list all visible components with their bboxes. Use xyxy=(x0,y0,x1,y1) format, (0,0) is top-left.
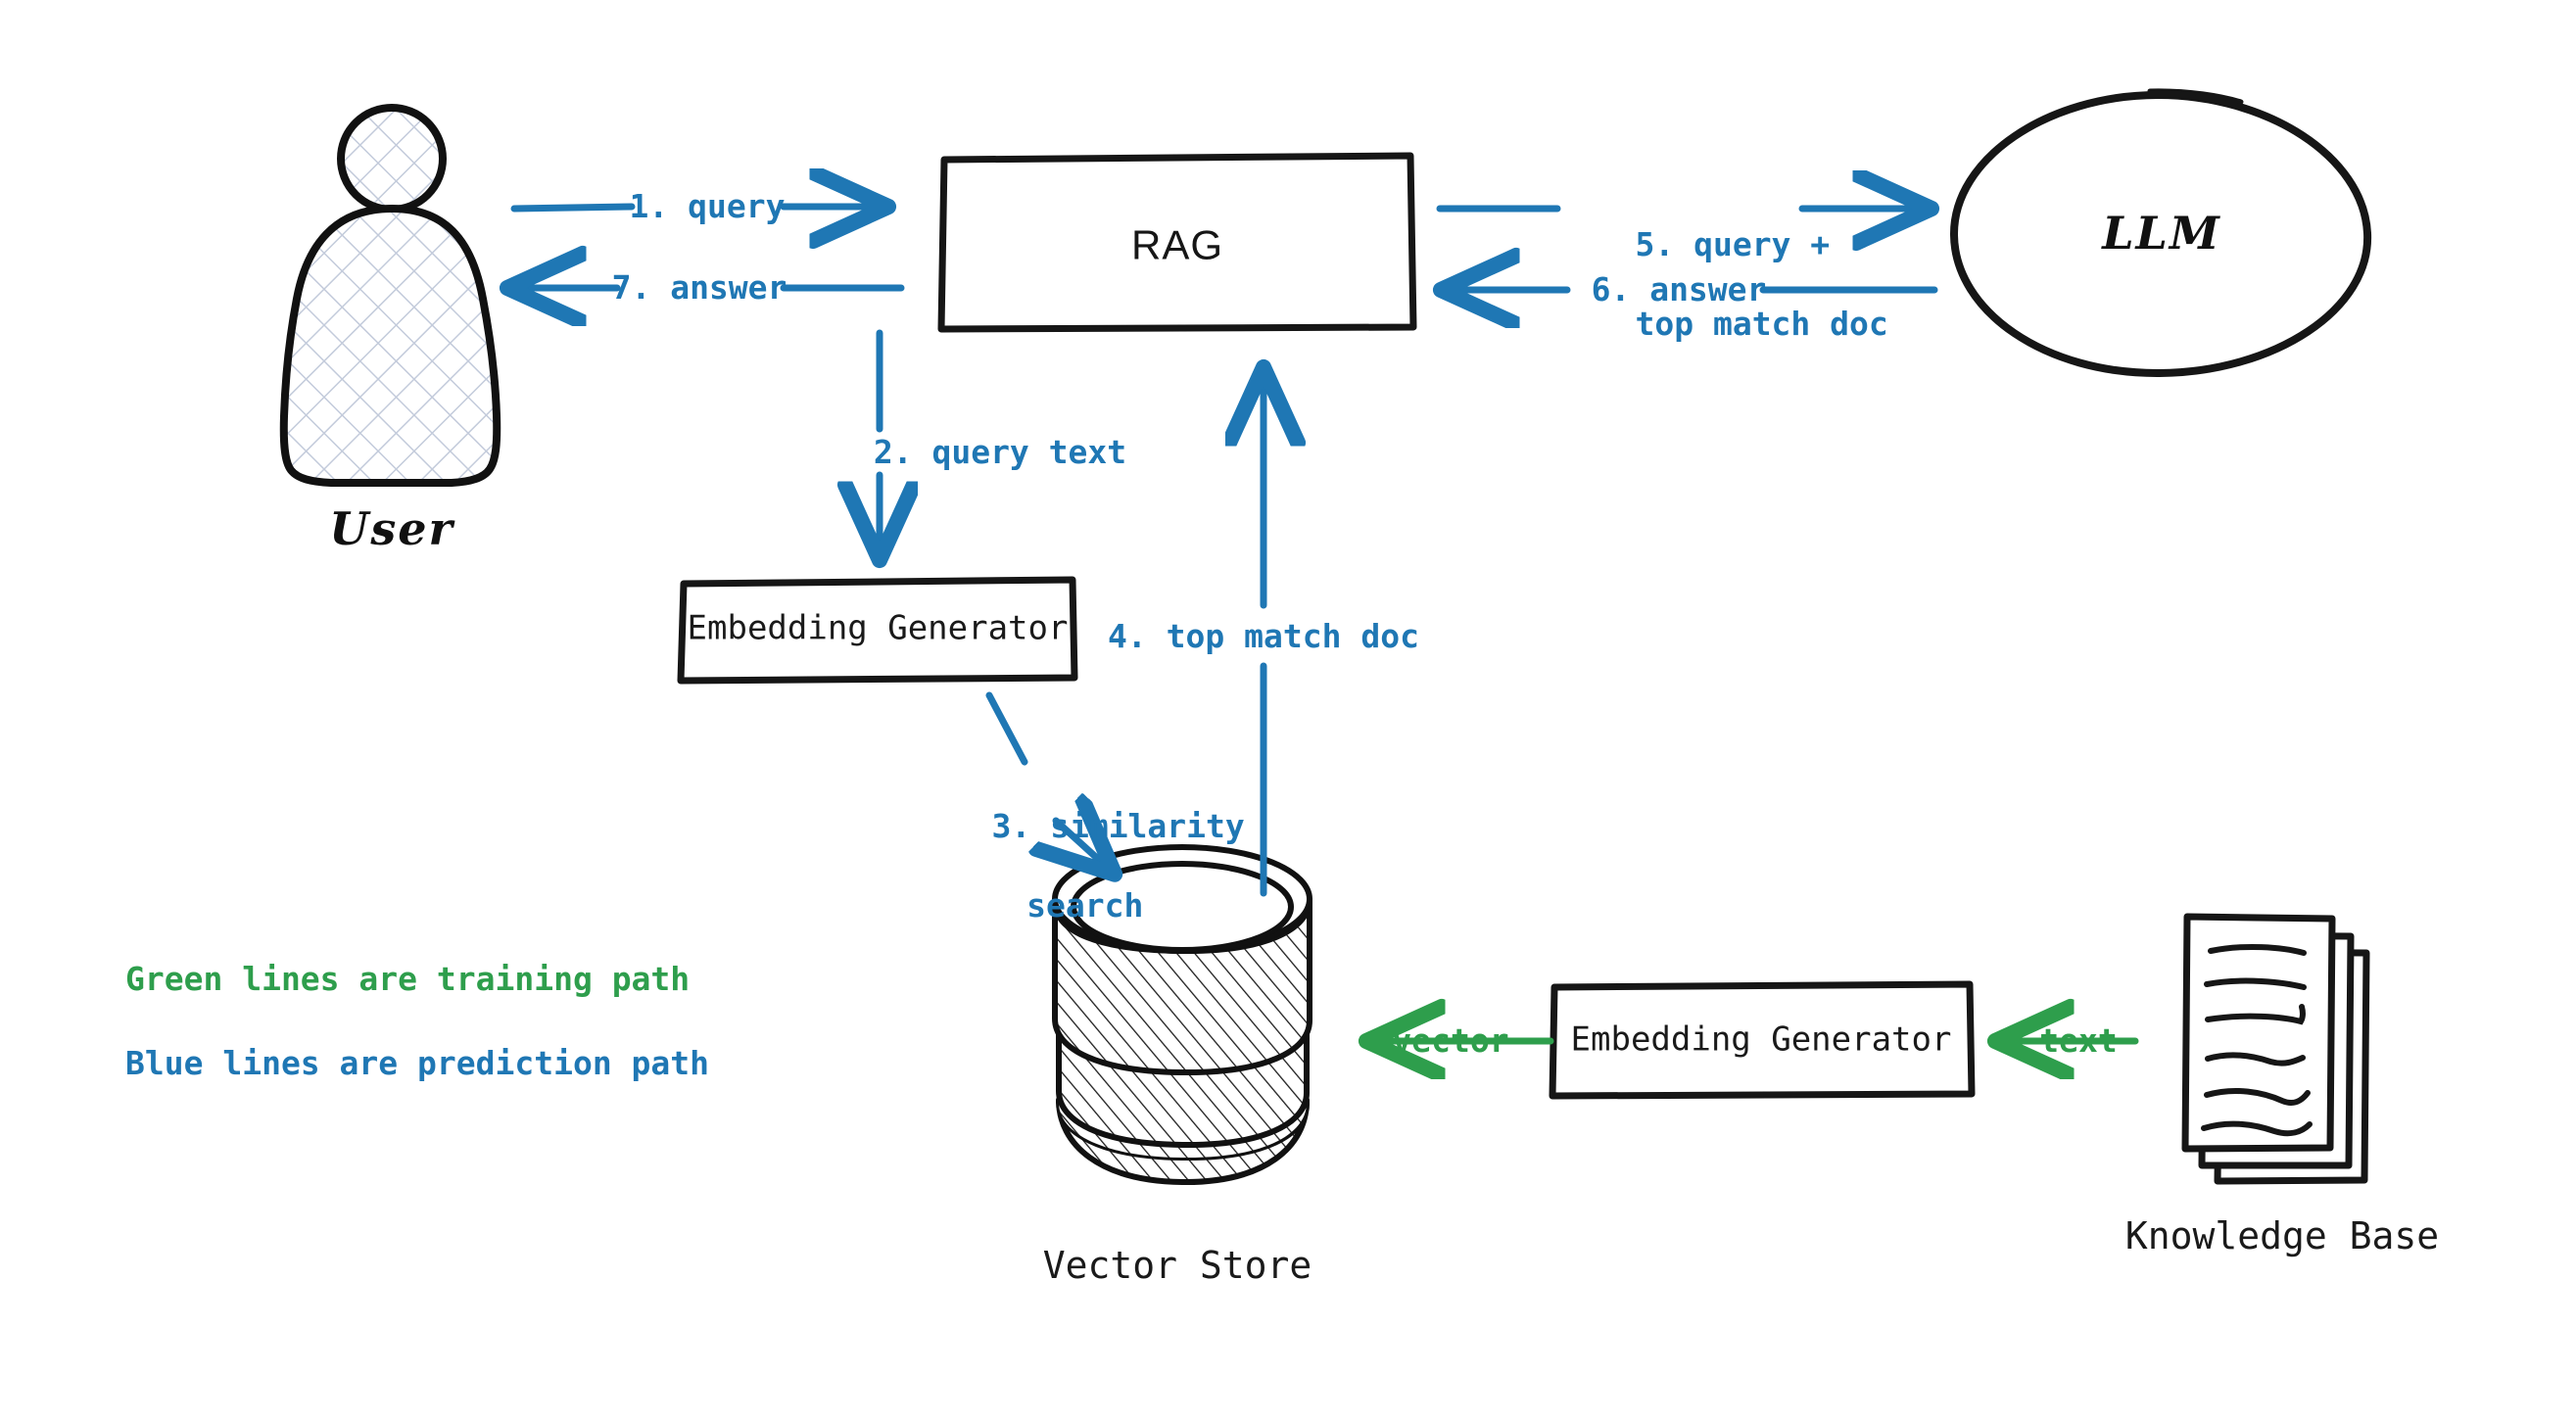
edge-label-text: text xyxy=(2039,1021,2117,1061)
edge-label-4-top-match-doc: 4. top match doc xyxy=(1108,617,1419,656)
rag-box-label: RAG xyxy=(1131,219,1223,269)
diagram-canvas: User RAG LLM Embedding Generator Embeddi… xyxy=(0,0,2576,1422)
edge-label-3-similarity-search: 3. similarity search xyxy=(914,768,1178,965)
edge-label-vector: vector xyxy=(1392,1021,1508,1061)
edge-label-6-answer: 6. answer xyxy=(1592,270,1767,309)
user-caption: User xyxy=(329,501,454,556)
legend-blue-prediction: Blue lines are prediction path xyxy=(125,1044,709,1083)
llm-label: LLM xyxy=(2102,206,2221,261)
embedding-generator-query-label: Embedding Generator xyxy=(688,608,1069,648)
edge-label-5-line1: 5. query + xyxy=(1635,225,1830,263)
edge-label-1-query: 1. query xyxy=(630,187,786,226)
vector-store-caption: Vector Store xyxy=(1043,1243,1312,1288)
edge-label-5-line2: top match doc xyxy=(1635,305,1887,343)
edge-label-7-answer: 7. answer xyxy=(612,268,787,308)
knowledge-base-caption: Knowledge Base xyxy=(2125,1213,2439,1258)
embedding-generator-ingest-label: Embedding Generator xyxy=(1571,1019,1952,1060)
legend-green-training: Green lines are training path xyxy=(125,960,690,999)
user-icon xyxy=(284,108,497,483)
knowledge-base-icon xyxy=(2185,917,2366,1181)
edge-label-3-line1: 3. similarity xyxy=(991,807,1244,845)
edge-label-3-line2: search xyxy=(1026,886,1143,924)
edge-label-2-query-text: 2. query text xyxy=(874,433,1126,472)
